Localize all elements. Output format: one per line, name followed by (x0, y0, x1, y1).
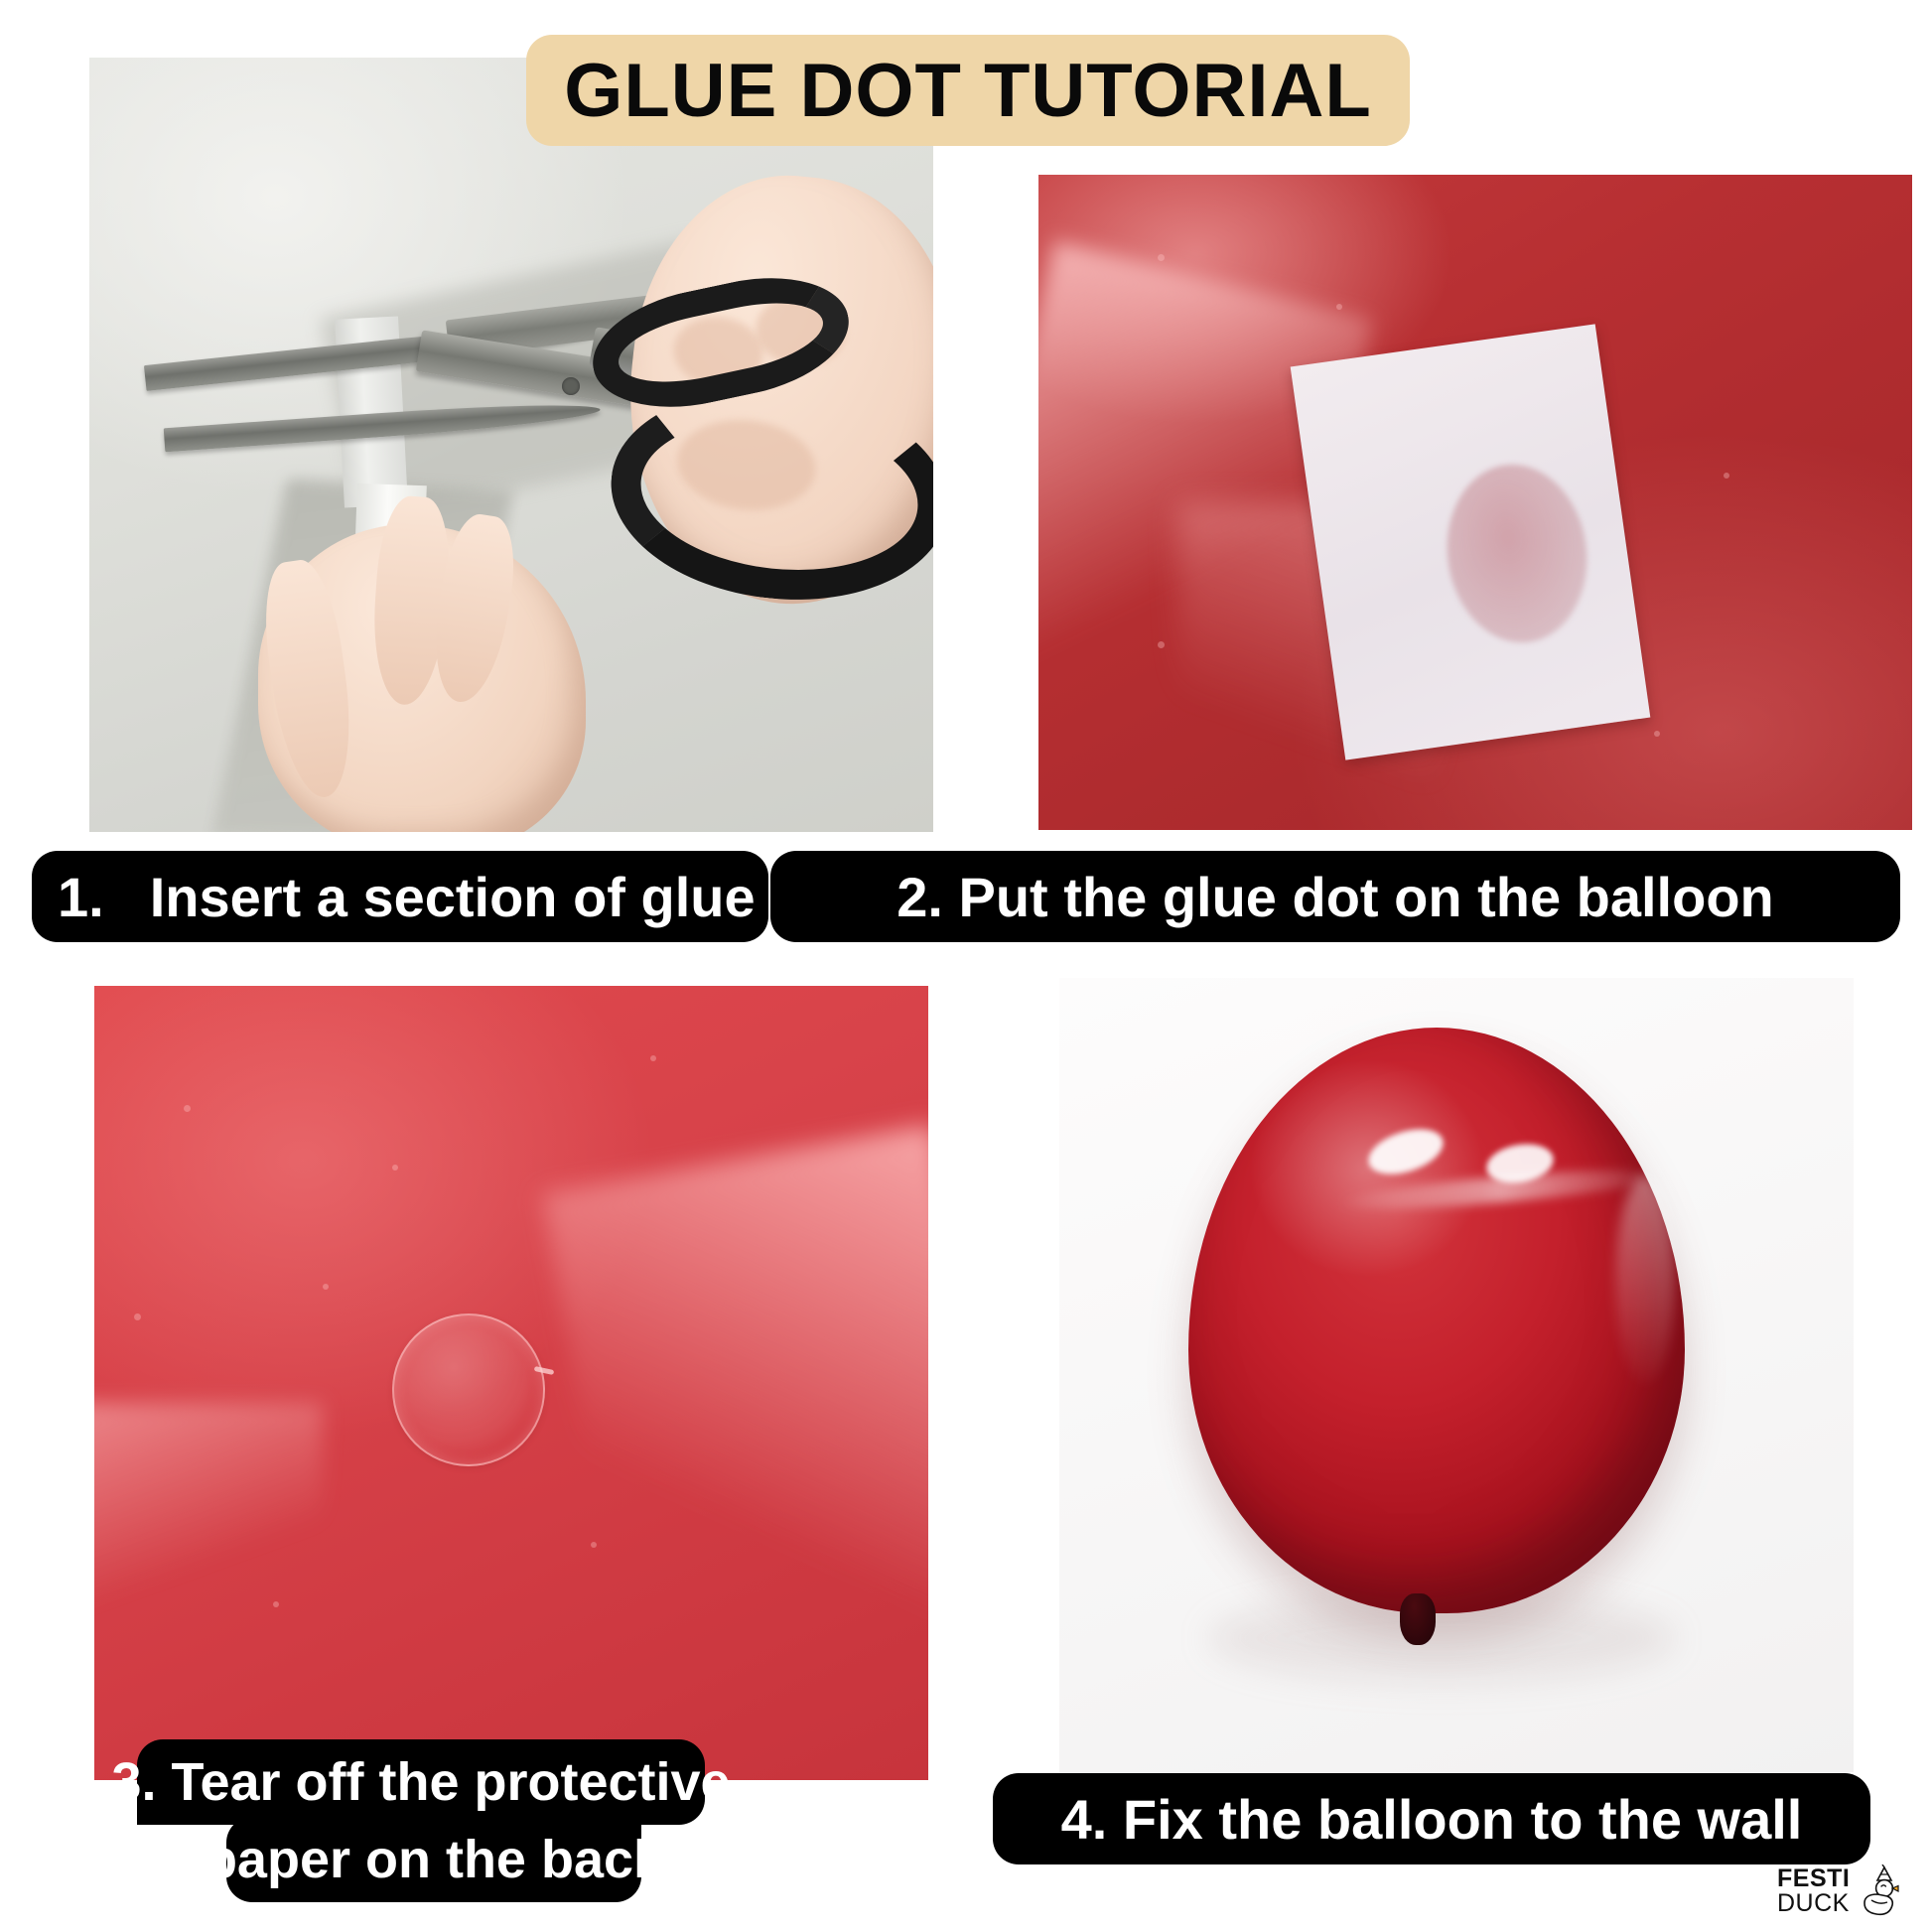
step-3-caption-line2: paper on the back (226, 1817, 641, 1902)
balloon-neck-knot (1400, 1593, 1436, 1645)
logo-line-1: FESTI (1777, 1866, 1850, 1891)
page-title: GLUE DOT TUTORIAL (564, 48, 1372, 134)
step-4-caption: 4. Fix the balloon to the wall (993, 1773, 1870, 1864)
glue-dot-circle (1436, 456, 1598, 652)
surface-speck (134, 1313, 141, 1320)
step-2-photo (1038, 175, 1912, 830)
duck-with-party-hat-icon (1854, 1864, 1899, 1918)
surface-speck (273, 1601, 279, 1607)
surface-speck (591, 1542, 597, 1548)
balloon-side-highlight (1615, 1176, 1675, 1385)
festiduck-logo: FESTI DUCK (1777, 1861, 1916, 1922)
step-2-label: 2. Put the glue dot on the balloon (897, 865, 1774, 929)
surface-speck (323, 1284, 329, 1290)
glue-dot-backing-paper (1291, 324, 1651, 759)
surface-speck (1158, 254, 1165, 261)
step-2-caption: 2. Put the glue dot on the balloon (770, 851, 1900, 942)
tutorial-infographic: GLUE DOT TUTORIAL 1. Insert a section of… (0, 0, 1932, 1932)
surface-speck (392, 1165, 398, 1171)
step-4-label: 4. Fix the balloon to the wall (1061, 1787, 1803, 1852)
surface-speck (1158, 641, 1165, 648)
title-banner: GLUE DOT TUTORIAL (526, 35, 1410, 146)
step-3-photo (94, 986, 928, 1780)
step-1-label: Insert a section of glue dot (150, 865, 858, 929)
surface-speck (1654, 731, 1660, 737)
step-1-photo (89, 58, 933, 832)
balloon-highlight (542, 1125, 928, 1780)
step-4-photo (1059, 978, 1854, 1772)
scissor-pivot-screw (562, 377, 580, 395)
surface-speck (650, 1055, 656, 1061)
balloon-highlight (94, 1403, 323, 1621)
red-balloon (1188, 1028, 1685, 1613)
step-1-number: 1. (58, 865, 104, 929)
balloon-specular-highlight (1363, 1121, 1449, 1182)
step-3-label-line2: paper on the back (205, 1829, 663, 1890)
step-1-caption: 1. Insert a section of glue dot (32, 851, 768, 942)
step-3-caption-line1: 3. Tear off the protective (137, 1739, 705, 1825)
left-hand-holding-tape (258, 524, 586, 832)
logo-line-2: DUCK (1777, 1891, 1850, 1916)
thumb (256, 556, 362, 802)
surface-speck (1724, 473, 1729, 479)
surface-speck (1336, 304, 1342, 310)
logo-wordmark: FESTI DUCK (1777, 1866, 1850, 1916)
step-3-label-line1: 3. Tear off the protective (111, 1751, 730, 1813)
transparent-glue-dot (392, 1313, 545, 1466)
surface-speck (184, 1105, 191, 1112)
